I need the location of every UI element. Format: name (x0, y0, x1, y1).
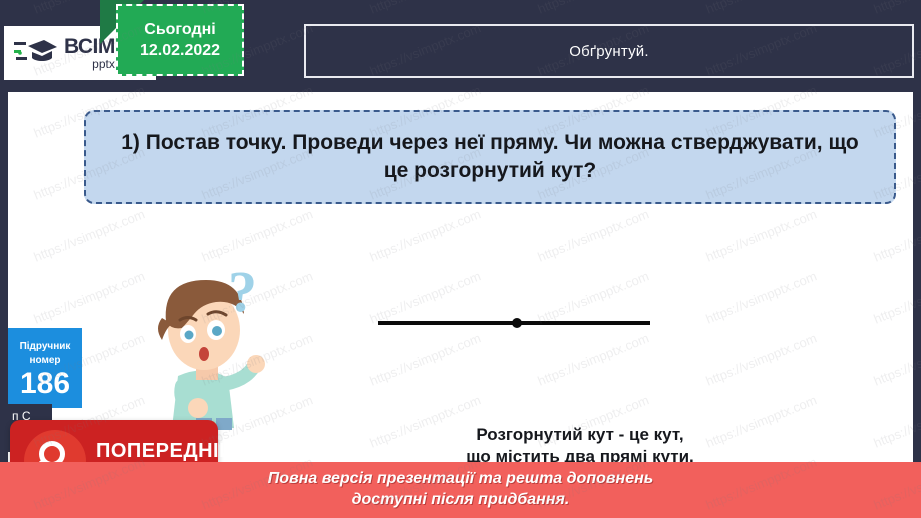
textbook-number: 186 (20, 368, 70, 400)
date-badge-value: 12.02.2022 (140, 42, 220, 60)
preview-badge-line1: ПОПЕРЕДНІЙ (96, 441, 234, 461)
line-point-marker (512, 318, 522, 328)
date-badge: Сьогодні 12.02.2022 (116, 4, 244, 76)
question-text: 1) Постав точку. Проведи через неї пряму… (108, 129, 872, 186)
textbook-number-badge: Підручник номер 186 (8, 328, 82, 408)
header-title-bar: Обґрунтуй. (304, 24, 914, 78)
page-title: Обґрунтуй. (569, 43, 648, 60)
graduation-cap-icon (14, 36, 58, 70)
purchase-notice-banner: Повна версія презентації та решта доповн… (0, 462, 921, 518)
date-badge-label: Сьогодні (144, 21, 215, 39)
logo-sub-text: pptx (92, 58, 115, 70)
question-box: 1) Постав точку. Проведи через неї пряму… (84, 110, 896, 204)
question-mark-icon: ? (228, 258, 257, 325)
banner-line-1: Повна версія презентації та решта доповн… (268, 469, 654, 490)
textbook-label-line1: Підручник (20, 340, 71, 354)
slide-canvas: Обґрунтуй. ВСІМ pptx Сьогодні 12.02.2022… (0, 0, 921, 518)
banner-line-2: доступні після придбання. (352, 490, 570, 511)
answer-line-1: Розгорнутий кут - це кут, (476, 425, 683, 444)
right-navy-edge (913, 0, 921, 518)
thinking-boy-illustration: ? (138, 258, 274, 430)
textbook-label-line2: номер (29, 354, 60, 368)
